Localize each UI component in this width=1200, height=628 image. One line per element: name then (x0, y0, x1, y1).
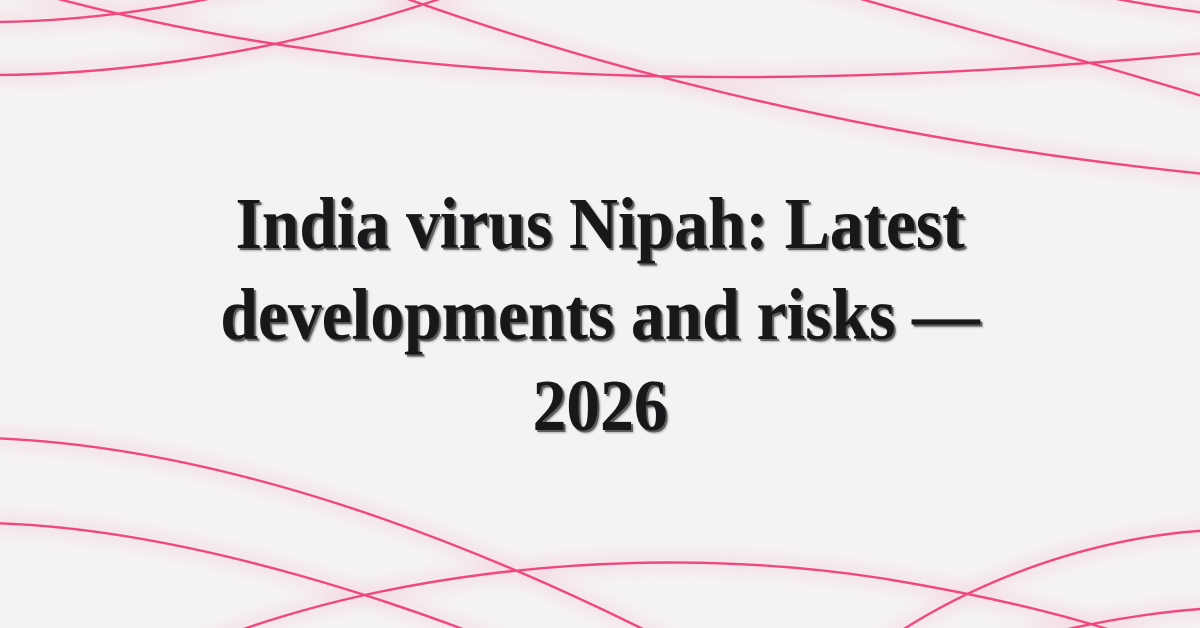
headline-container: India virus Nipah: Latest developments a… (0, 0, 1200, 628)
page-title: India virus Nipah: Latest developments a… (200, 178, 1000, 451)
og-card: India virus Nipah: Latest developments a… (0, 0, 1200, 628)
